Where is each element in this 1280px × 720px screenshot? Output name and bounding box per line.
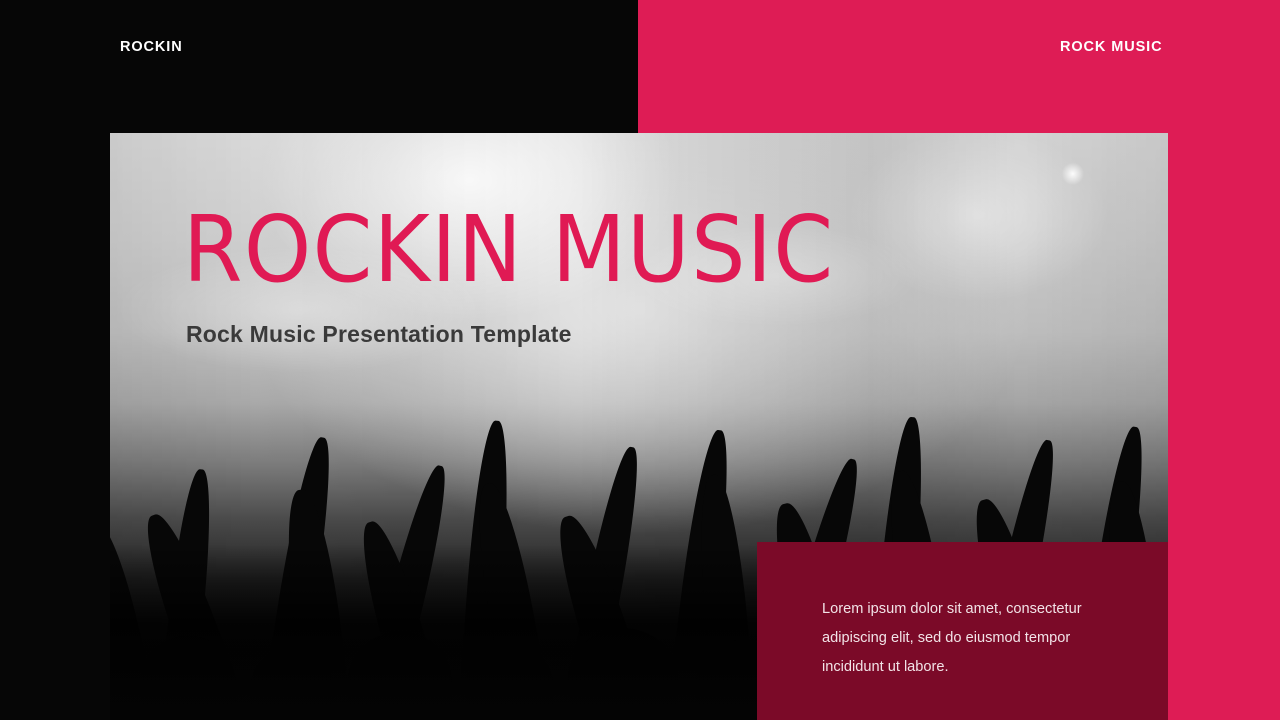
callout-box: Lorem ipsum dolor sit amet, consectetur … <box>757 542 1168 720</box>
header-brand-label: ROCKIN <box>120 36 183 58</box>
header-crimson-band <box>638 0 1280 128</box>
page-title: ROCKIN MUSIC <box>183 198 835 302</box>
photo-stage-haze <box>110 133 1168 473</box>
callout-body-text: Lorem ipsum dolor sit amet, consectetur … <box>822 595 1118 682</box>
slide-canvas: ROCKIN ROCK MUSIC <box>0 0 1280 720</box>
page-subtitle: Rock Music Presentation Template <box>186 318 572 350</box>
header-black-band <box>0 0 638 128</box>
header-category-label: ROCK MUSIC <box>1060 36 1162 58</box>
